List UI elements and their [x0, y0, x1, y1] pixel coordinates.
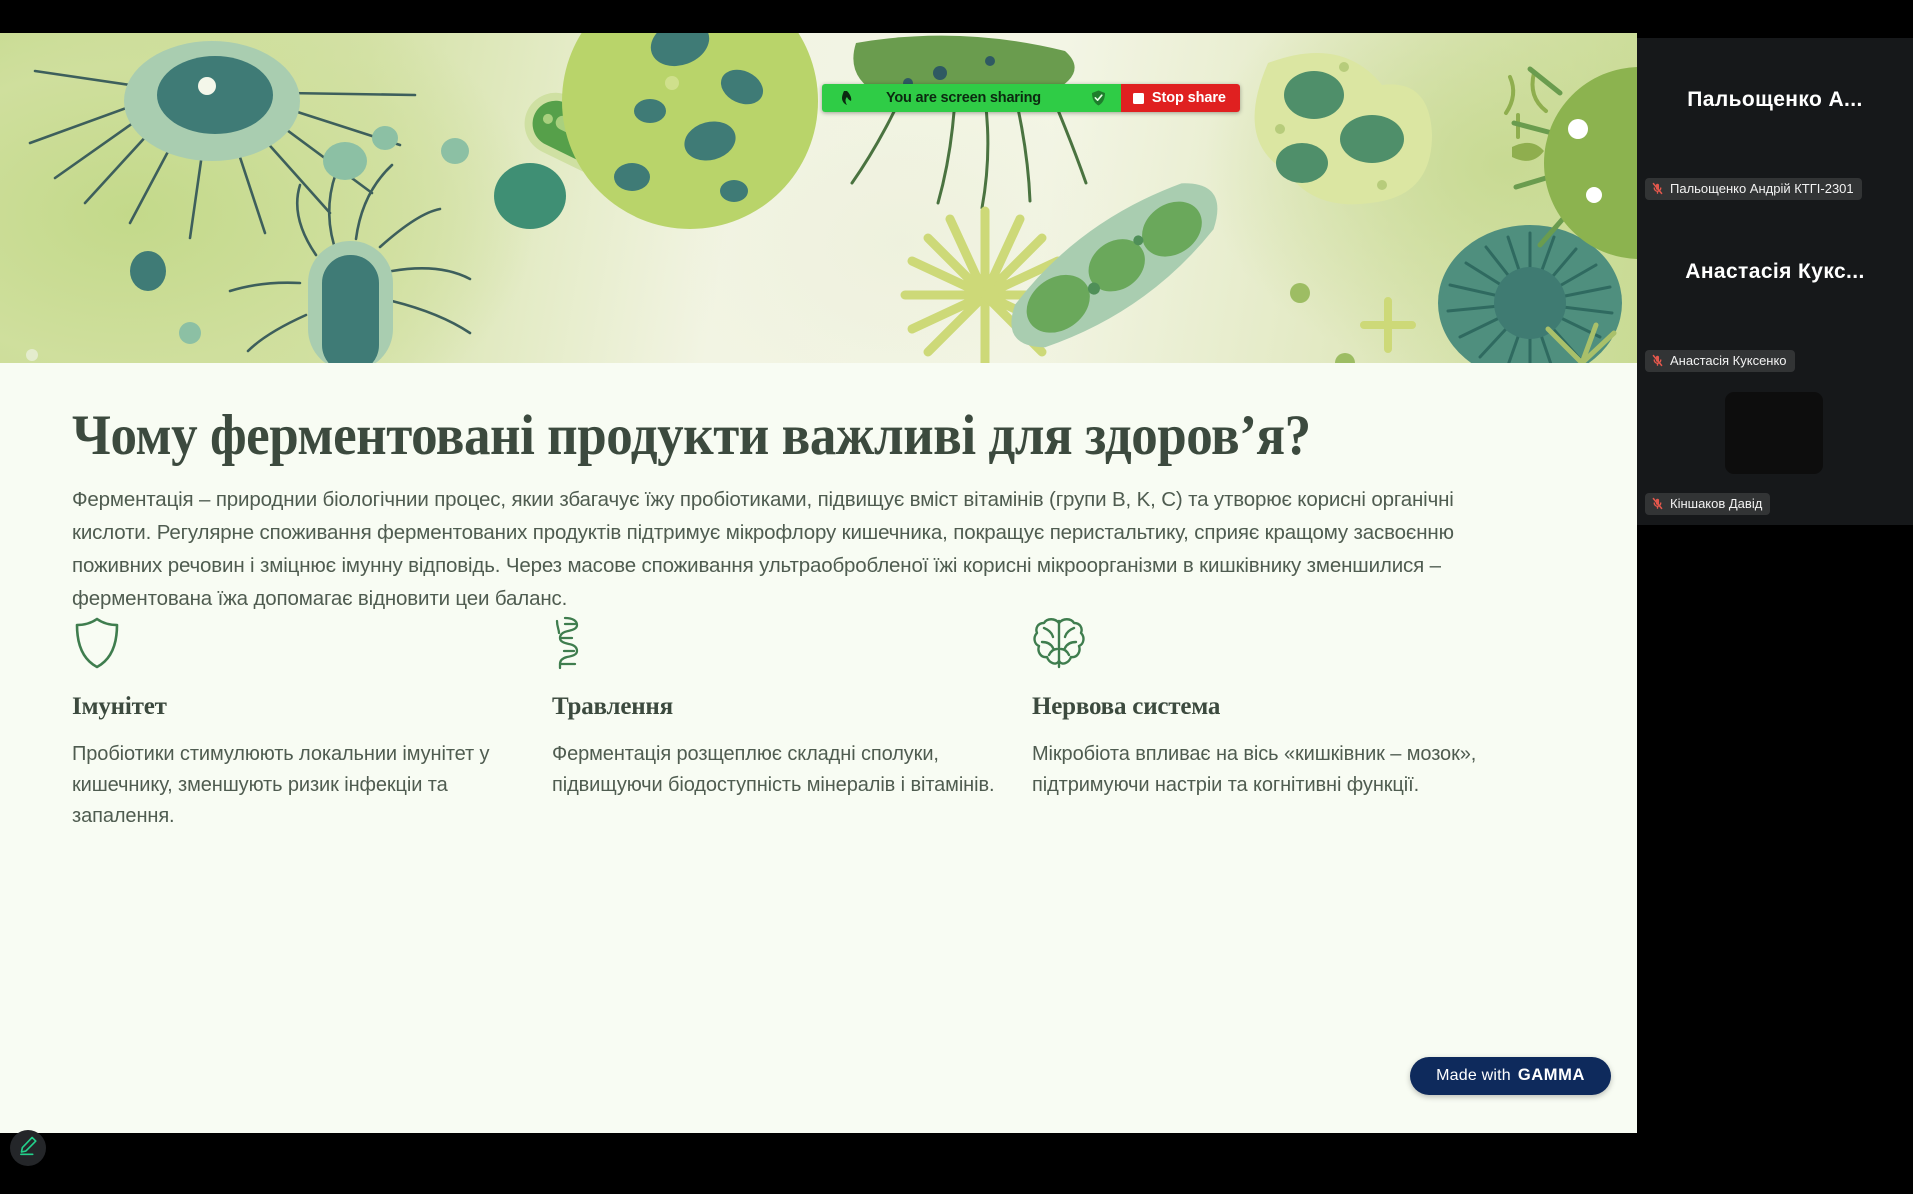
- pencil-annotate-icon: [18, 1135, 39, 1161]
- shield-icon: [72, 615, 552, 671]
- microphone-muted-icon: [1651, 354, 1664, 367]
- participant-name-label: Пальощенко Андрій КТГІ-2301: [1645, 178, 1862, 200]
- feature-title: Імунітет: [72, 693, 552, 721]
- participant-display-name: Анастасія Кукс...: [1637, 260, 1913, 284]
- intestine-icon: [552, 615, 1032, 671]
- security-shield-icon[interactable]: [1087, 90, 1111, 106]
- participant-name-label: Анастасія Куксенко: [1645, 350, 1795, 372]
- slide-headline: Чому ферментовані продукти важливі для з…: [72, 405, 1504, 467]
- stop-share-button[interactable]: Stop share: [1121, 84, 1240, 112]
- slide-lead-paragraph: Ферментація – природнии біологічнии проц…: [72, 483, 1490, 615]
- microbe-illustration-banner: [0, 33, 1637, 363]
- microphone-muted-icon: [1651, 497, 1664, 510]
- microphone-muted-icon: [1651, 182, 1664, 195]
- stop-share-label: Stop share: [1152, 90, 1226, 106]
- feature-body: Ферментація розщеплює складні сполуки, п…: [552, 739, 1014, 801]
- participant-label-text: Пальощенко Андрій КТГІ-2301: [1670, 181, 1854, 196]
- participant-name-label: Кіншаков Давід: [1645, 493, 1770, 515]
- zoom-participants-panel[interactable]: Пальощенко А... Пальощенко Андрій КТГІ-2…: [1637, 38, 1913, 525]
- participant-tile[interactable]: Пальощенко А... Пальощенко Андрій КТГІ-2…: [1637, 38, 1913, 210]
- shared-slide: Чому ферментовані продукти важливі для з…: [0, 33, 1637, 1133]
- gamma-logo: GAMMA: [1518, 1066, 1585, 1085]
- feature-column-nervous-system: Нервова система Мікробіота впливає на ві…: [1032, 615, 1512, 832]
- sharing-status-text: You are screen sharing: [860, 90, 1087, 106]
- participant-tile[interactable]: Анастасія Кукс... Анастасія Куксенко: [1637, 210, 1913, 382]
- feature-title: Травлення: [552, 693, 1032, 721]
- participant-label-text: Анастасія Куксенко: [1670, 353, 1787, 368]
- share-arrow-icon: [834, 90, 860, 106]
- brain-icon: [1032, 615, 1512, 671]
- sharing-status-group: You are screen sharing: [822, 84, 1121, 112]
- feature-body: Пробіотики стимулюють локальнии імунітет…: [72, 739, 534, 832]
- feature-title: Нервова система: [1032, 693, 1512, 721]
- feature-body: Мікробіота впливає на вісь «кишківник – …: [1032, 739, 1494, 801]
- screen-sharing-toolbar[interactable]: You are screen sharing Stop share: [822, 84, 1240, 112]
- feature-columns: Імунітет Пробіотики стимулюють локальнии…: [72, 615, 1572, 832]
- gamma-prefix: Made with: [1436, 1067, 1511, 1085]
- participant-display-name: Пальощенко А...: [1637, 88, 1913, 112]
- participant-video-thumbnail[interactable]: [1725, 392, 1823, 474]
- participant-tile[interactable]: Кіншаков Давід: [1637, 382, 1913, 525]
- screen-share-view: Чому ферментовані продукти важливі для з…: [0, 0, 1913, 1194]
- made-with-gamma-badge[interactable]: Made with GAMMA: [1410, 1057, 1611, 1095]
- feature-column-digestion: Травлення Ферментація розщеплює складні …: [552, 615, 1032, 832]
- participant-label-text: Кіншаков Давід: [1670, 496, 1762, 511]
- stop-square-icon: [1133, 93, 1144, 104]
- annotate-button[interactable]: [10, 1130, 46, 1166]
- feature-column-immunity: Імунітет Пробіотики стимулюють локальнии…: [72, 615, 552, 832]
